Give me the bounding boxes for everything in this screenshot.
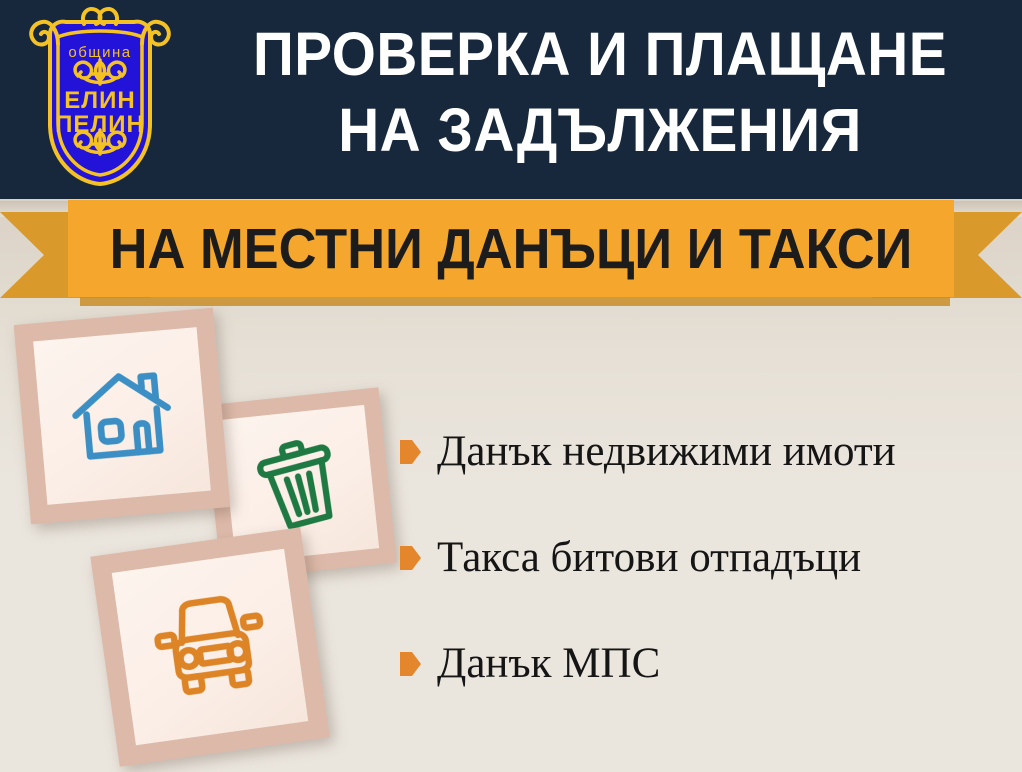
arrow-bullet-icon [400,546,421,570]
logo-top-text: община [68,44,131,61]
house-icon [62,356,181,475]
tax-type-list: Данък недвижими имоти Такса битови отпад… [400,430,1020,748]
stamp-pad [14,308,231,525]
ribbon-band: НА МЕСТНИ ДАНЪЦИ И ТАКСИ [68,200,954,297]
logo-line2-text: ПЕЛИН [55,111,145,138]
page-title: ПРОВЕРКА И ПЛАЩАНЕ НА ЗАДЪЛЖЕНИЯ [219,16,982,168]
arrow-bullet-icon [400,652,421,676]
list-item-label: Данък недвижими имоти [437,430,896,474]
list-item-label: Такса битови отпадъци [437,536,861,580]
car-icon [144,579,277,712]
stamp-vehicle [90,527,329,766]
arrow-bullet-icon [400,440,421,464]
list-item-label: Данък МПС [437,642,660,686]
municipality-logo: община ЕЛИН ПЕЛИН [20,4,180,190]
list-item[interactable]: Такса битови отпадъци [400,536,1020,580]
coat-of-arms-icon: община ЕЛИН ПЕЛИН [20,4,180,190]
promo-banner-page: община ЕЛИН ПЕЛИН ПРОВЕРКА И ПЛАЩАНЕ НА … [0,0,1022,772]
logo-line1-text: ЕЛИН [64,87,135,114]
ribbon-band-shadow [80,297,950,306]
stamp-pad [90,527,329,766]
list-item[interactable]: Данък недвижими имоти [400,430,1020,474]
stamp-real-estate [14,308,231,525]
header-bar: община ЕЛИН ПЕЛИН ПРОВЕРКА И ПЛАЩАНЕ НА … [0,0,1022,199]
ribbon-text: НА МЕСТНИ ДАНЪЦИ И ТАКСИ [103,200,918,297]
list-item[interactable]: Данък МПС [400,642,1020,686]
ribbon-banner: НА МЕСТНИ ДАНЪЦИ И ТАКСИ [0,196,1022,306]
